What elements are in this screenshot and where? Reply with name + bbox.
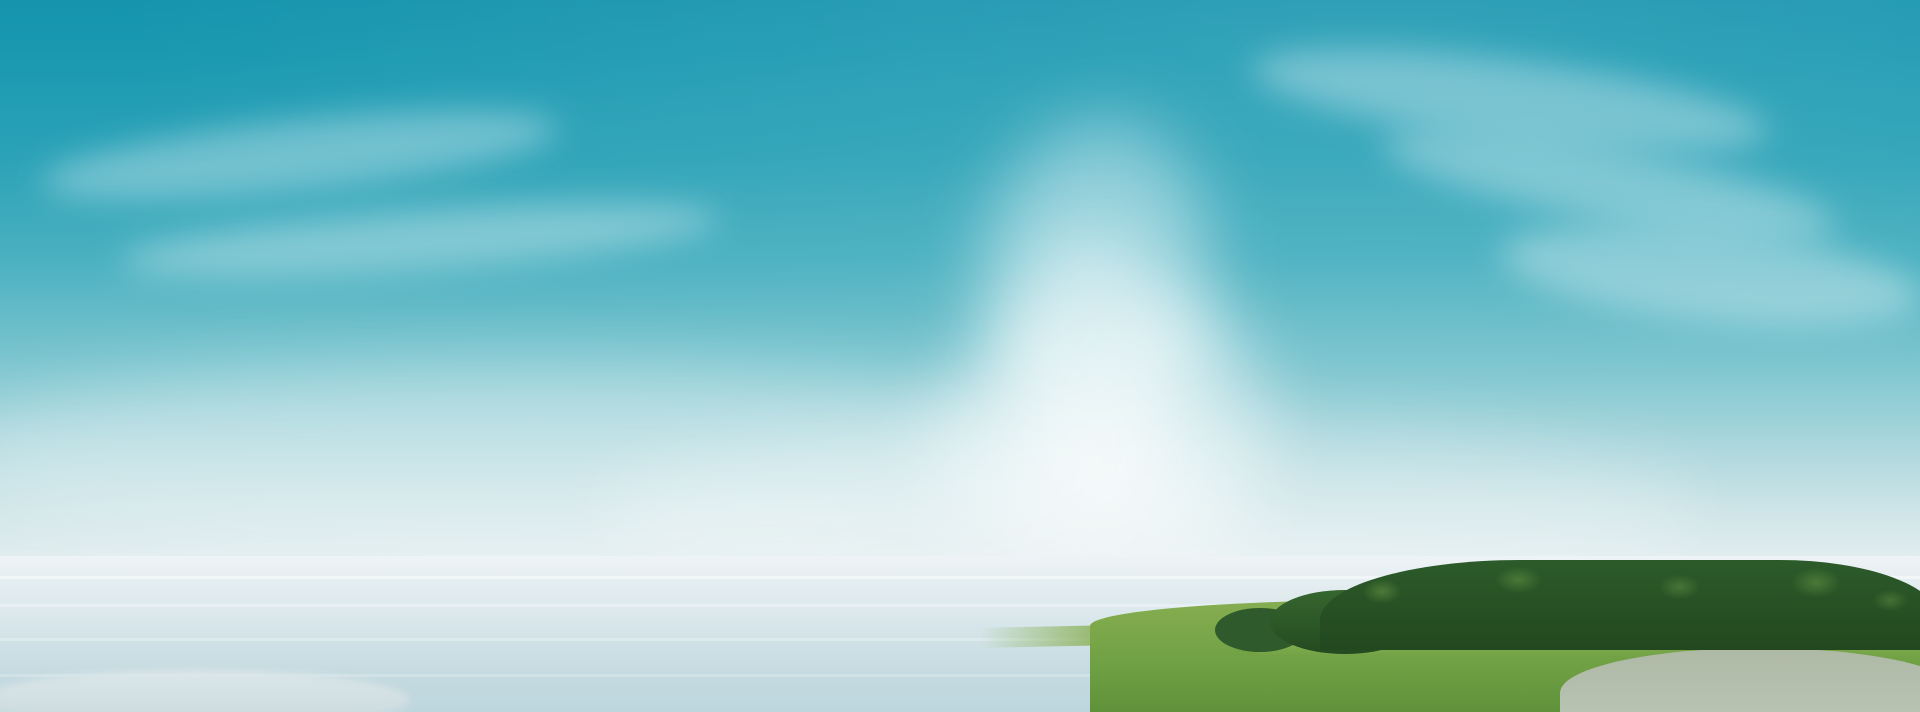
hero-banner: 信念 探索 合作 共赢 Belief, Explore, Cooperation…	[0, 0, 1920, 712]
tree-line	[1320, 560, 1920, 650]
